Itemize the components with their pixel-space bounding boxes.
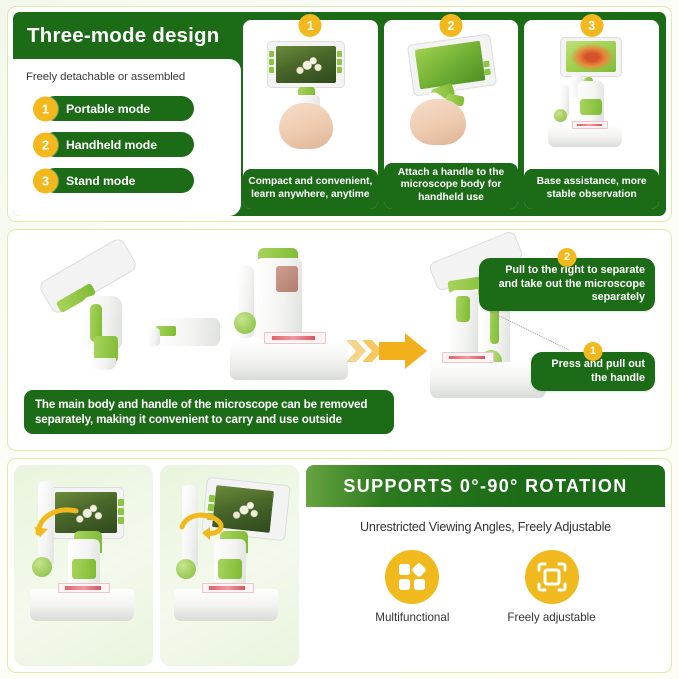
three-mode-design-panel: Three-mode design Freely detachable or a… xyxy=(7,6,672,222)
specimen-slide xyxy=(442,352,494,363)
feature-multifunctional: Multifunctional xyxy=(375,550,449,624)
left-green-strip xyxy=(456,296,470,322)
screen-left-buttons xyxy=(269,51,274,73)
feature-label-freely-adjustable: Freely adjustable xyxy=(507,611,595,624)
device-base xyxy=(174,589,278,621)
callout-badge-1: 1 xyxy=(584,342,603,361)
device-base xyxy=(430,362,546,398)
rotation-header: SUPPORTS 0°-90° ROTATION xyxy=(306,465,665,507)
specimen-slide xyxy=(572,121,608,129)
device-focus-ring xyxy=(72,559,96,579)
mode-label-portable: Portable mode xyxy=(66,102,150,116)
detachable-caption: The main body and handle of the microsco… xyxy=(24,390,394,434)
focus-knob xyxy=(554,109,567,122)
device-focus-ring xyxy=(580,99,602,115)
mode-label-stand: Stand mode xyxy=(66,174,135,188)
mode-badge-1: 1 xyxy=(33,96,58,121)
mode-card-caption-2: Attach a handle to the microscope body f… xyxy=(384,163,519,210)
three-mode-left-column: Three-mode design Freely detachable or a… xyxy=(13,12,241,216)
screen-right-buttons xyxy=(337,51,342,73)
multifunctional-shapes-icon xyxy=(385,550,439,604)
card-badge-2: 2 xyxy=(440,14,463,37)
callout-pull-right: 2 Pull to the right to separate and take… xyxy=(479,258,655,311)
rotation-info-column: SUPPORTS 0°-90° ROTATION Unrestricted Vi… xyxy=(306,465,665,666)
device-base xyxy=(230,340,348,380)
screen-image-flower xyxy=(276,46,336,83)
feature-label-multifunctional: Multifunctional xyxy=(375,611,449,624)
screen-right-buttons xyxy=(483,61,491,76)
rotation-title: SUPPORTS 0°-90° ROTATION xyxy=(343,476,627,497)
rotation-subtitle: Unrestricted Viewing Angles, Freely Adju… xyxy=(306,520,665,534)
focus-knob xyxy=(32,557,52,577)
curved-rotation-arrow-icon xyxy=(34,503,80,542)
page-title: Three-mode design xyxy=(27,24,220,48)
hand-illustration xyxy=(410,99,466,145)
specimen-slide xyxy=(264,332,326,344)
screen-image-specimen xyxy=(566,41,616,72)
three-mode-subtitle: Freely detachable or assembled xyxy=(26,71,233,83)
handle-tip xyxy=(148,328,160,346)
three-mode-header: Three-mode design xyxy=(13,12,241,59)
card-badge-3: 3 xyxy=(580,14,603,37)
detached-handle-module xyxy=(148,312,224,356)
detachable-illustration-stage: 2 Pull to the right to separate and take… xyxy=(16,236,663,444)
callout-text-2: Pull to the right to separate and take o… xyxy=(499,264,645,303)
mode-pill-handheld[interactable]: 2 Handheld mode xyxy=(42,132,194,157)
crop-frame-icon xyxy=(525,550,579,604)
mode-badge-2: 2 xyxy=(33,132,58,157)
portable-mode-photo xyxy=(243,29,378,169)
rotation-card-0deg xyxy=(14,465,153,666)
focus-knob xyxy=(176,559,196,579)
mode-label-handheld: Handheld mode xyxy=(66,138,157,152)
three-mode-card-row: 1 xyxy=(241,12,666,216)
stand-mode-photo xyxy=(524,29,659,169)
feature-freely-adjustable: Freely adjustable xyxy=(507,550,595,624)
objective-lens xyxy=(90,358,116,370)
mode-card-caption-1: Compact and convenient, learn anywhere, … xyxy=(243,169,378,209)
mode-card-portable: 1 xyxy=(243,20,378,209)
card-badge-1: 1 xyxy=(299,14,322,37)
curved-rotation-arrow-icon xyxy=(176,509,232,548)
specimen-slide xyxy=(58,583,110,593)
assembled-microscope-on-base xyxy=(228,244,358,384)
specimen-slide xyxy=(202,583,254,593)
mode-card-stand: 3 Base assistance, more stable observa xyxy=(524,20,659,209)
focus-knob xyxy=(234,312,256,334)
texture-panel xyxy=(276,266,298,292)
screen-right-buttons xyxy=(118,499,124,524)
device-focus-ring xyxy=(218,559,242,579)
rotation-card-90deg xyxy=(160,465,299,666)
device-base xyxy=(30,589,134,621)
mode-card-handheld: 2 Attach a handle to the microscop xyxy=(384,20,519,209)
callout-press-pull: 1 Press and pull out the handle xyxy=(531,352,655,391)
mode-pill-portable[interactable]: 1 Portable mode xyxy=(42,96,194,121)
handheld-mode-photo xyxy=(384,29,519,163)
infographic-page: Three-mode design Freely detachable or a… xyxy=(0,0,679,679)
rotation-body: Unrestricted Viewing Angles, Freely Adju… xyxy=(306,507,665,666)
three-mode-green-body: Three-mode design Freely detachable or a… xyxy=(13,12,666,216)
callout-badge-2: 2 xyxy=(558,248,577,267)
mode-pill-stand[interactable]: 3 Stand mode xyxy=(42,168,194,193)
rotation-panel: SUPPORTS 0°-90° ROTATION Unrestricted Vi… xyxy=(7,458,672,673)
feature-row: Multifunctional Freely a xyxy=(306,550,665,624)
mode-list: 1 Portable mode 2 Handheld mode 3 Stand … xyxy=(26,96,233,193)
mode-card-caption-3: Base assistance, more stable observation xyxy=(524,169,659,209)
hand-illustration xyxy=(279,103,333,149)
mode-badge-3: 3 xyxy=(33,168,58,193)
three-mode-white-card: Freely detachable or assembled 1 Portabl… xyxy=(13,59,241,216)
callout-text-1: Press and pull out the handle xyxy=(551,358,645,384)
detachable-panel: 2 Pull to the right to separate and take… xyxy=(7,229,672,451)
